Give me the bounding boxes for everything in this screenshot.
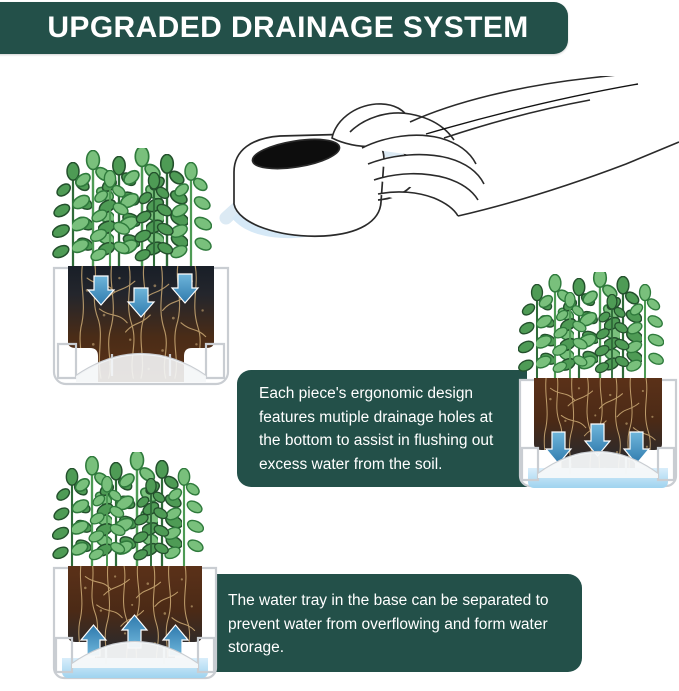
header-banner: UPGRADED DRAINAGE SYSTEM: [0, 2, 568, 54]
planter-bottom-left-graphic: [46, 452, 224, 690]
callout-water-tray: The water tray in the base can be separa…: [208, 574, 582, 672]
planter-right: [512, 272, 679, 500]
planter-top-left-graphic: [46, 148, 236, 398]
foliage-right: [517, 272, 666, 384]
infographic-canvas: UPGRADED DRAINAGE SYSTEM: [0, 0, 679, 691]
callout-drainage-holes: Each piece's ergonomic design features m…: [237, 370, 527, 487]
page-title: UPGRADED DRAINAGE SYSTEM: [0, 2, 568, 54]
planter-bottom-left: [46, 452, 224, 690]
callout-drainage-holes-text: Each piece's ergonomic design features m…: [259, 382, 511, 476]
planter-top-left: [46, 148, 236, 398]
callout-water-tray-text: The water tray in the base can be separa…: [228, 589, 568, 660]
foliage-top-left: [51, 148, 214, 274]
planter-right-graphic: [512, 272, 679, 500]
arm-contour: [426, 84, 638, 134]
hand-watering-can-graphic: [218, 76, 679, 276]
watering-scene: [218, 76, 679, 281]
foliage-bottom-left: [51, 452, 206, 572]
